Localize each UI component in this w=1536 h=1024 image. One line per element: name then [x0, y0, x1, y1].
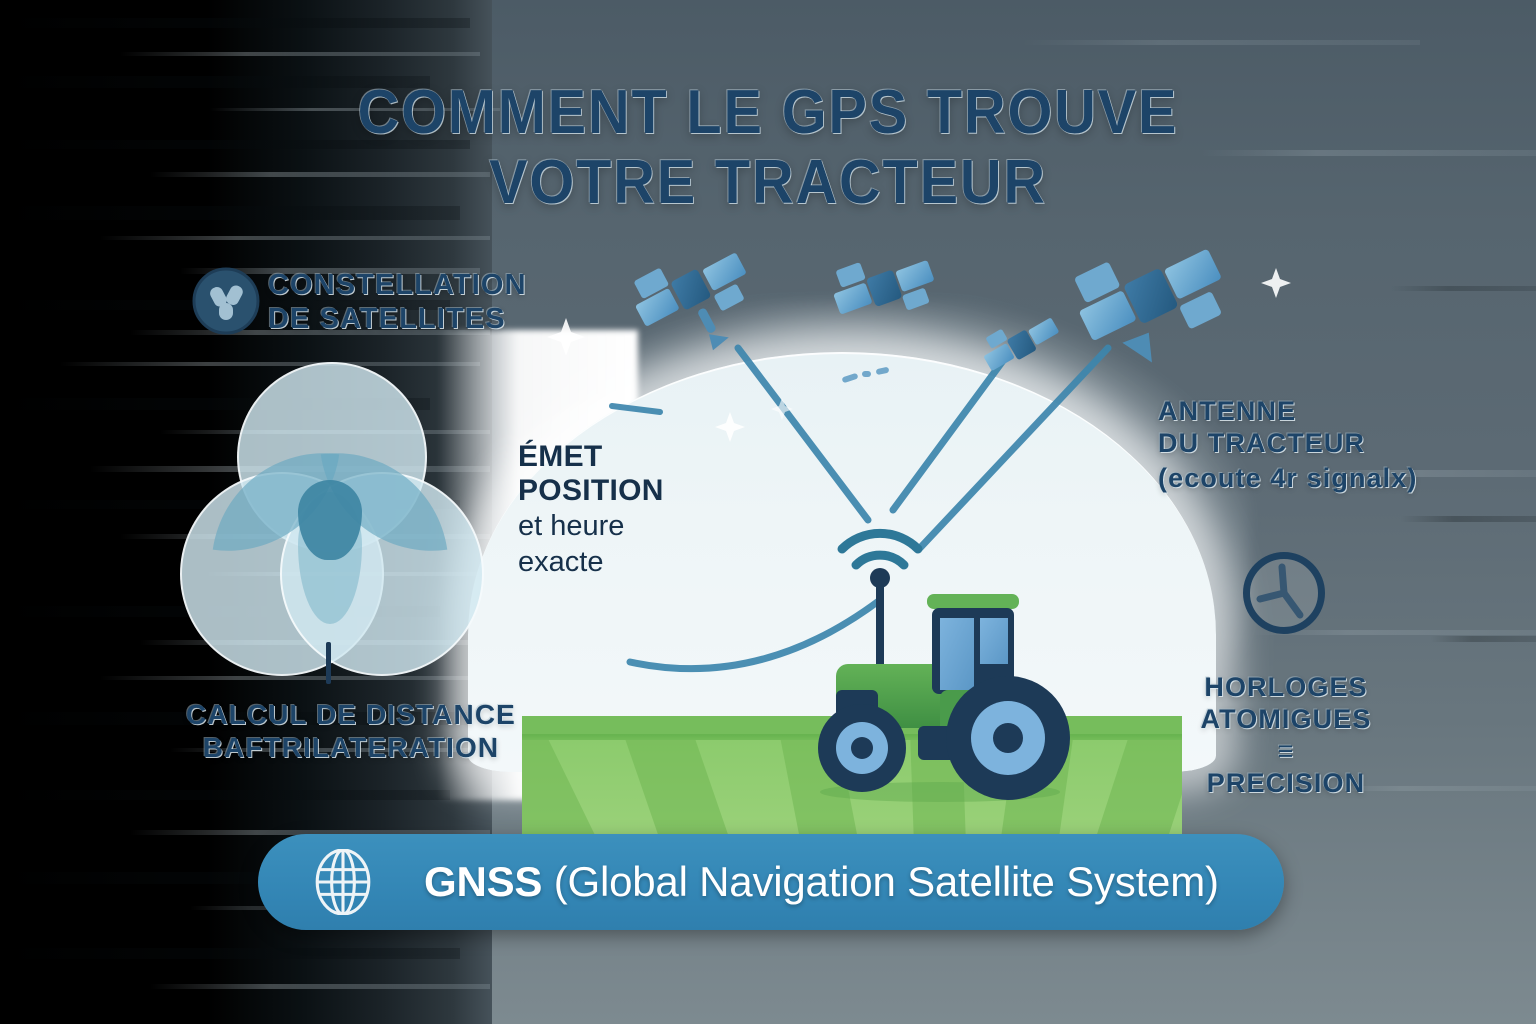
title-line-2: VOTRE TRACTEUR [54, 148, 1482, 218]
gnss-banner[interactable]: GNSS (Global Navigation Satellite System… [258, 834, 1284, 930]
label-emit: ÉMET POSITION et heure exacte [518, 440, 664, 580]
field-horizon-line [522, 734, 1182, 740]
page-title: COMMENT LE GPS TROUVE VOTRE TRACTEUR [54, 78, 1482, 218]
label-trilateration-line-2: BAFTRILATERATION [186, 731, 516, 764]
label-clocks-line-1: HORLOGES [1188, 672, 1384, 704]
infographic-canvas: COMMENT LE GPS TROUVE VOTRE TRACTEUR CON… [0, 0, 1536, 1024]
label-emit-line-2: POSITION [518, 474, 664, 508]
label-clocks-line-3: PRECISION [1188, 768, 1384, 800]
label-emit-line-1: ÉMET [518, 440, 664, 474]
label-trilateration-line-1: CALCUL DE DISTANCE [186, 698, 516, 731]
banner-acronym: GNSS [424, 858, 542, 905]
label-emit-line-3: et heure [518, 508, 664, 544]
label-antenna-line-2: DU TRACTEUR [1158, 428, 1417, 460]
label-constellation-line-2: DE SATELLITES [268, 302, 527, 336]
label-antenna-line-1: ANTENNE [1158, 396, 1417, 428]
label-clocks: HORLOGES ATOMIGUES ≡ PRECISION [1188, 672, 1384, 799]
globe-icon [310, 849, 376, 915]
banner-text: GNSS (Global Navigation Satellite System… [424, 858, 1219, 906]
label-antenna-line-3: (ecoute 4r signalx) [1158, 463, 1417, 495]
label-trilateration: CALCUL DE DISTANCE BAFTRILATERATION [186, 698, 516, 764]
label-clocks-line-2: ATOMIGUES ≡ [1188, 704, 1384, 768]
venn-pointer-stem [326, 642, 331, 684]
label-antenna: ANTENNE DU TRACTEUR (ecoute 4r signalx) [1158, 396, 1417, 495]
crop-field [522, 716, 1182, 836]
banner-expansion: (Global Navigation Satellite System) [542, 858, 1219, 905]
clock-icon [1243, 552, 1325, 634]
label-emit-line-4: exacte [518, 544, 664, 580]
trilateration-venn [180, 362, 480, 674]
title-line-1: COMMENT LE GPS TROUVE [54, 78, 1482, 148]
field-horizon-band [522, 716, 1182, 734]
label-constellation: CONSTELLATION DE SATELLITES [268, 268, 527, 336]
label-constellation-line-1: CONSTELLATION [268, 268, 527, 302]
